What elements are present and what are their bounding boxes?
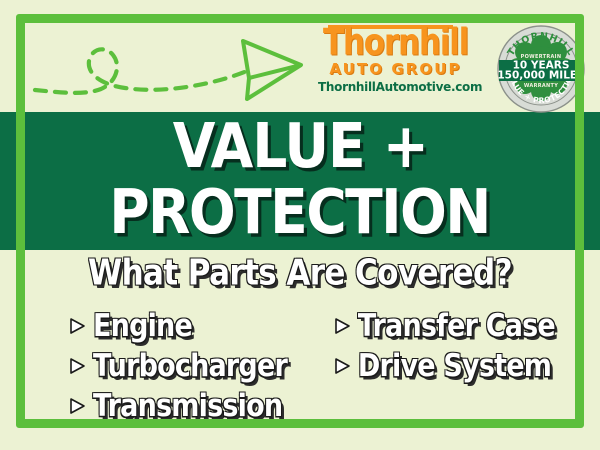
- list-item: Engine: [66, 306, 325, 346]
- list-item: Transmission: [66, 386, 325, 426]
- headline-block: VALUE + PROTECTION: [0, 112, 600, 250]
- headline-line-1: VALUE +: [172, 119, 427, 178]
- list-item: Turbocharger: [66, 346, 325, 386]
- triangle-right-icon: [66, 395, 88, 417]
- part-label: Transfer Case: [358, 308, 555, 343]
- logo-website-text: ThornhillAutomotive.com: [318, 81, 473, 93]
- triangle-right-icon: [331, 355, 353, 377]
- warranty-seal-badge: THORNHILL VALUE + PROTECTION POWERTRAIN …: [497, 25, 585, 113]
- part-label: Transmission: [93, 388, 282, 423]
- triangle-right-icon: [331, 315, 353, 337]
- subhead-block: What Parts Are Covered?: [0, 255, 600, 291]
- headline-line-2: PROTECTION: [110, 185, 491, 244]
- triangle-right-icon: [66, 315, 88, 337]
- part-label: Turbocharger: [93, 348, 287, 383]
- seal-warranty-text: WARRANTY: [524, 83, 558, 89]
- triangle-right-icon: [66, 355, 88, 377]
- dashed-loop-arrow-icon: [25, 27, 315, 111]
- logo-brand-text: Thornhill: [318, 25, 473, 62]
- logo-subtitle-text: AUTO GROUP: [318, 62, 473, 77]
- part-label: Engine: [93, 308, 192, 343]
- seal-miles-text: 150,000 MILES: [497, 70, 584, 82]
- thornhill-logo[interactable]: Thornhill AUTO GROUP ThornhillAutomotive…: [318, 25, 473, 93]
- poster-header: Thornhill AUTO GROUP ThornhillAutomotive…: [25, 23, 575, 111]
- parts-column-right: Transfer Case Drive System: [325, 306, 568, 426]
- list-item: Transfer Case: [331, 306, 568, 346]
- list-item: Drive System: [331, 346, 568, 386]
- part-label: Drive System: [358, 348, 551, 383]
- covered-parts-list: Engine Turbocharger Transmission Tra: [32, 306, 568, 426]
- promo-poster: Thornhill AUTO GROUP ThornhillAutomotive…: [0, 0, 600, 450]
- subhead-text: What Parts Are Covered?: [88, 252, 512, 293]
- parts-column-left: Engine Turbocharger Transmission: [32, 306, 325, 426]
